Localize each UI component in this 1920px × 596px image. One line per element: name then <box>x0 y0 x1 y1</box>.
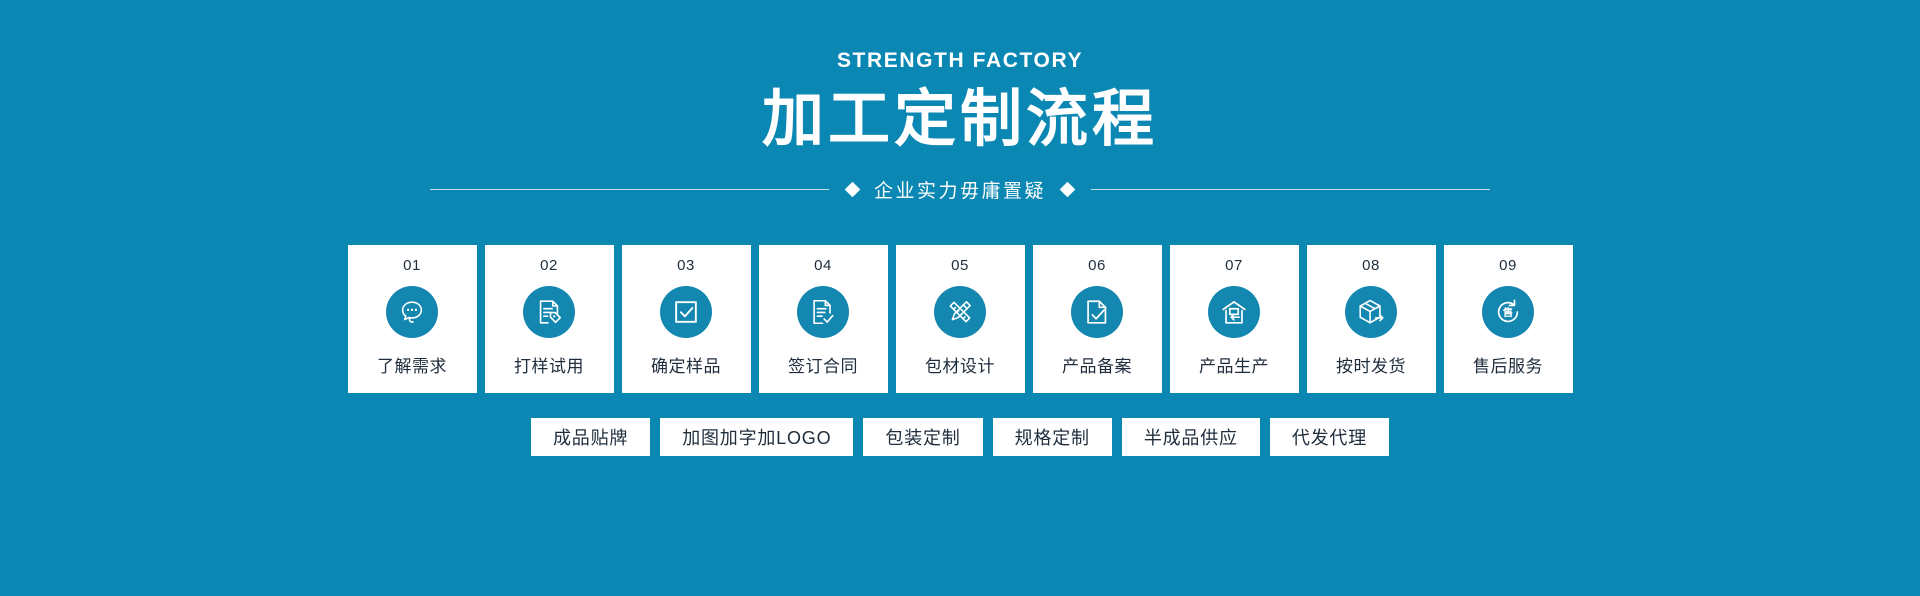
tag-button-spec-custom[interactable]: 规格定制 <box>993 418 1112 456</box>
step-card-01[interactable]: 01 了解需求 <box>348 245 477 393</box>
step-label: 确定样品 <box>651 352 721 377</box>
pencil-ruler-icon <box>934 286 986 338</box>
step-card-04[interactable]: 04 签订合同 <box>759 245 888 393</box>
factory-arrow-icon <box>1208 286 1260 338</box>
step-label: 打样试用 <box>514 352 584 377</box>
file-check-icon <box>1071 286 1123 338</box>
speech-bubble-headset-icon <box>386 286 438 338</box>
tag-button-custom-logo[interactable]: 加图加字加LOGO <box>660 418 853 456</box>
checkbox-icon <box>660 286 712 338</box>
step-card-08[interactable]: 08 按时发货 <box>1307 245 1436 393</box>
step-card-03[interactable]: 03 确定样品 <box>622 245 751 393</box>
step-label: 售后服务 <box>1473 352 1543 377</box>
document-tag-icon <box>523 286 575 338</box>
step-number: 04 <box>814 258 832 273</box>
diamond-icon-right <box>1060 182 1076 198</box>
step-number: 09 <box>1499 258 1517 273</box>
divider-line-left <box>430 189 829 190</box>
step-card-07[interactable]: 07 产品生产 <box>1170 245 1299 393</box>
after-sales-refresh-icon: 售 <box>1482 286 1534 338</box>
service-tags-row: 成品贴牌 加图加字加LOGO 包装定制 规格定制 半成品供应 代发代理 <box>531 418 1389 456</box>
step-number: 07 <box>1225 258 1243 273</box>
subtitle-divider-row: 企业实力毋庸置疑 <box>430 176 1490 203</box>
tag-button-semi-finished-supply[interactable]: 半成品供应 <box>1122 418 1260 456</box>
eyebrow-text: STRENGTH FACTORY <box>837 50 1083 71</box>
tag-button-dropshipping[interactable]: 代发代理 <box>1270 418 1389 456</box>
step-card-02[interactable]: 02 打样试用 <box>485 245 614 393</box>
step-label: 产品备案 <box>1062 352 1132 377</box>
divider-line-right <box>1091 189 1490 190</box>
contract-check-icon <box>797 286 849 338</box>
step-label: 按时发货 <box>1336 352 1406 377</box>
step-number: 01 <box>403 258 421 273</box>
step-card-06[interactable]: 06 产品备案 <box>1033 245 1162 393</box>
step-number: 03 <box>677 258 695 273</box>
process-steps-row: 01 了解需求 02 <box>348 245 1573 393</box>
step-number: 08 <box>1362 258 1380 273</box>
step-number: 06 <box>1088 258 1106 273</box>
box-arrow-icon <box>1345 286 1397 338</box>
step-card-05[interactable]: 05 包材设计 <box>896 245 1025 393</box>
after-sales-glyph: 售 <box>1503 306 1513 319</box>
step-number: 05 <box>951 258 969 273</box>
tag-button-packaging-custom[interactable]: 包装定制 <box>863 418 982 456</box>
page-title: 加工定制流程 <box>762 85 1158 154</box>
banner-header: STRENGTH FACTORY 加工定制流程 企业实力毋庸置疑 <box>0 0 1920 203</box>
step-label: 产品生产 <box>1199 352 1269 377</box>
step-number: 02 <box>540 258 558 273</box>
tag-button-finished-oem[interactable]: 成品贴牌 <box>531 418 650 456</box>
step-label: 签订合同 <box>788 352 858 377</box>
step-label: 了解需求 <box>377 352 447 377</box>
subtitle-text: 企业实力毋庸置疑 <box>858 176 1062 203</box>
process-banner: STRENGTH FACTORY 加工定制流程 企业实力毋庸置疑 01 <box>0 0 1920 596</box>
step-card-09[interactable]: 09 售 售后服务 <box>1444 245 1573 393</box>
step-label: 包材设计 <box>925 352 995 377</box>
